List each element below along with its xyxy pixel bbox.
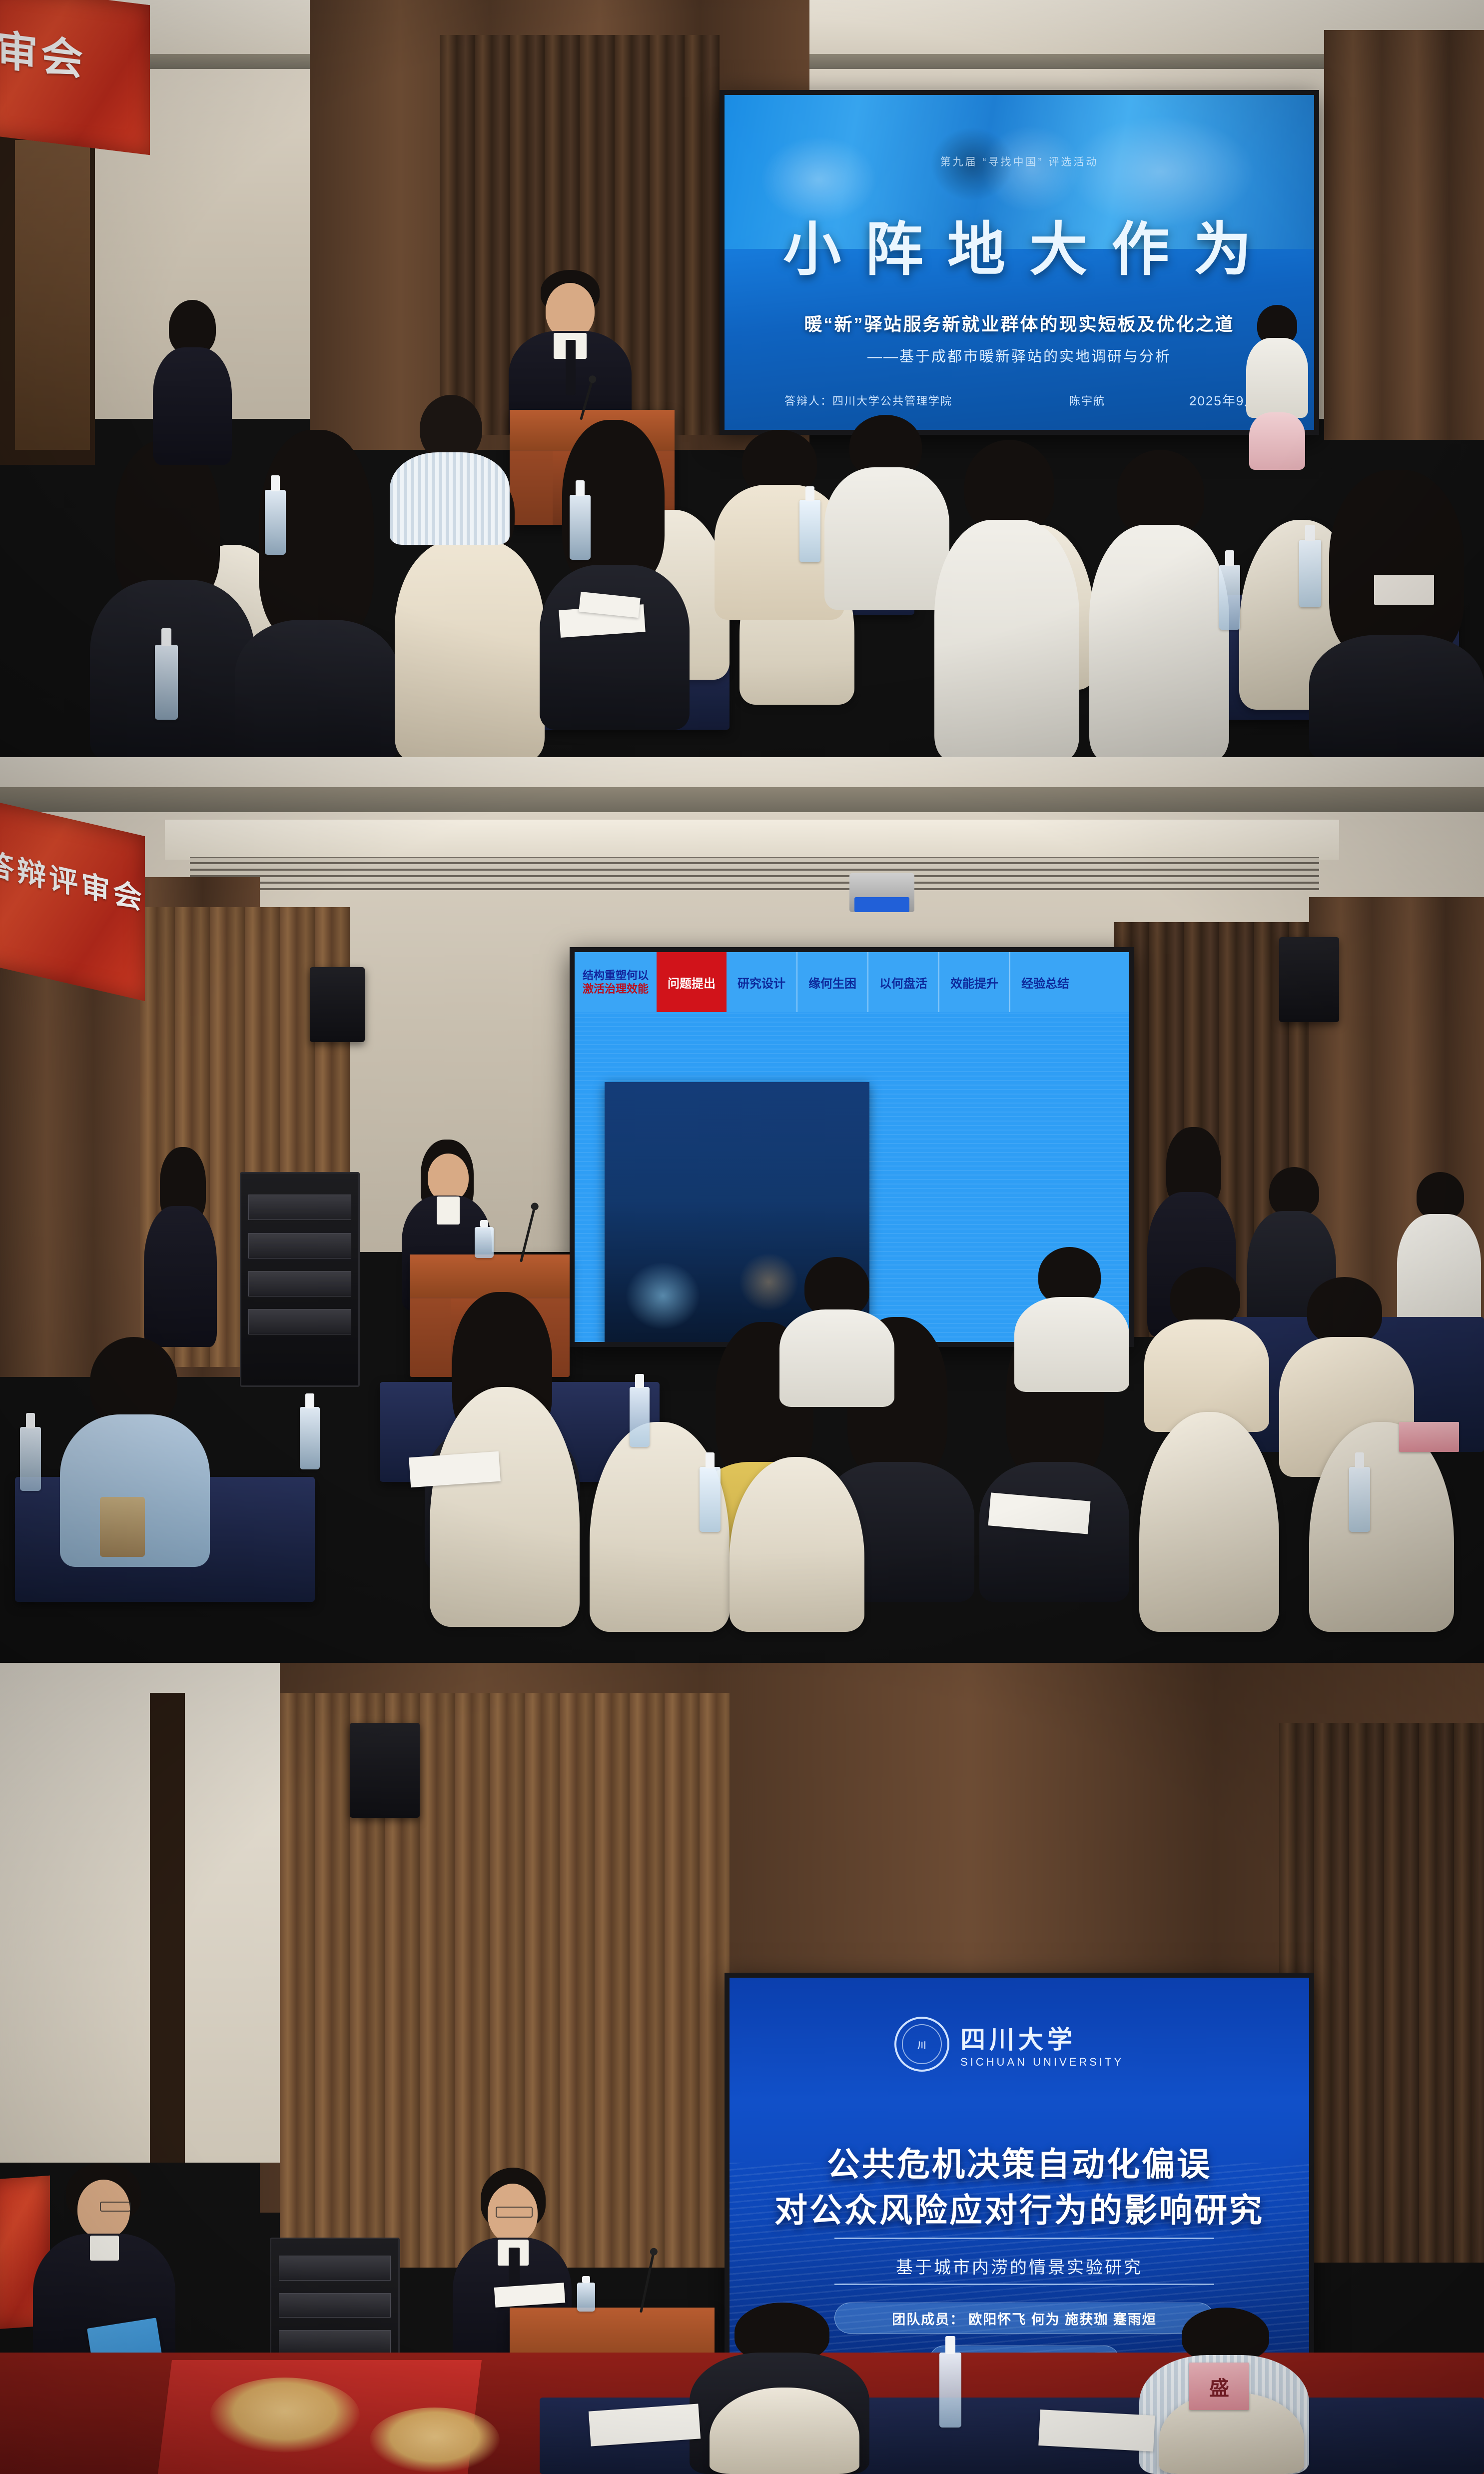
wood-wall-right	[1324, 30, 1484, 440]
water-bottle-1a	[155, 645, 178, 720]
ceiling-soffit-2	[165, 820, 1339, 860]
conference-room-2: 答辩评审会 结构重塑何以 激活治理效能 问题提出 研究设计 缘何生困	[0, 757, 1484, 1663]
iced-coffee-cup-2	[100, 1497, 145, 1557]
audience-body-1c	[395, 540, 545, 757]
ceiling-beam-2	[0, 787, 1484, 812]
observer-hair-2d	[1417, 1172, 1464, 1220]
audience-1i	[1089, 450, 1229, 757]
audience-1j	[1309, 470, 1484, 757]
judge-hair-3b	[1182, 2308, 1269, 2363]
standing-body-1l	[153, 347, 232, 465]
water-bottle-3a	[939, 2353, 961, 2428]
wood-lattice-door	[15, 140, 90, 450]
name-card-2a	[1399, 1422, 1459, 1452]
slide-divider-3	[834, 2238, 1214, 2239]
team-label: 团队成员：	[892, 2309, 964, 2328]
water-bottle-2e	[20, 1427, 41, 1491]
event-banner-1: 审会	[0, 0, 150, 155]
audience-2h	[1144, 1267, 1269, 1432]
audience-body-2f	[779, 1309, 894, 1407]
waiting-collar-3	[90, 2236, 119, 2261]
water-bottle-1f	[1219, 565, 1240, 630]
audience-body-2g	[1014, 1297, 1129, 1392]
standing-body-1k	[1246, 338, 1308, 418]
slide-tab-2[interactable]: 缘何生困	[797, 952, 868, 1012]
speaker-glasses-3	[496, 2207, 533, 2218]
ceiling-vent-2	[190, 857, 1319, 890]
carpet-motif-3a	[210, 2378, 360, 2453]
audience-2f	[779, 1257, 894, 1407]
sichuan-university-logo: 川 四川大学 SICHUAN UNIVERSITY	[894, 2017, 1124, 2072]
audience-hair-1j	[1329, 470, 1464, 660]
slide-title-line1-3: 公共危机决策自动化偏误	[730, 2138, 1309, 2186]
photo-collage: 审会 第九届 “寻找中国” 评选活动 小 阵 地 大 作 为 暖“新”驿站服务新…	[0, 0, 1484, 2474]
water-bottle-1b	[265, 490, 286, 555]
audience-hair-2a	[90, 1337, 177, 1427]
ceiling-projector-2	[849, 873, 914, 912]
audience-body-1i	[1089, 525, 1229, 757]
sichuan-university-seal-icon: 川	[894, 2017, 949, 2072]
projection-screen-1: 第九届 “寻找中国” 评选活动 小 阵 地 大 作 为 暖“新”驿站服务新就业群…	[720, 90, 1319, 435]
audience-hair-2f	[804, 1257, 869, 1317]
equipment-rack-2	[240, 1172, 360, 1387]
audience-1d	[540, 420, 690, 730]
slide-subtitle2-1: ——基于成都市暖新驿站的实地调研与分析	[725, 345, 1314, 366]
observer-body-2a	[144, 1206, 217, 1347]
door-frame-3	[150, 1693, 185, 2163]
observer-hair-2c	[1269, 1167, 1319, 1217]
carpet-motif-3b	[370, 2408, 500, 2473]
projector-lens-2	[854, 897, 909, 912]
water-bottle-2c	[700, 1467, 721, 1532]
left-wall-3	[0, 1663, 280, 2163]
audience-2g	[1014, 1247, 1129, 1392]
slide-footer-presenter-1: 陈宇航	[1069, 392, 1105, 408]
conference-room-3: 川 四川大学 SICHUAN UNIVERSITY 公共危机决策自动化偏误 对公…	[0, 1663, 1484, 2474]
slide-tab-5[interactable]: 经验总结	[1010, 952, 1080, 1012]
slide-divider2-3	[834, 2284, 1214, 2285]
observer-standing-2a	[140, 1147, 220, 1347]
banner-text-1: 审会	[0, 16, 86, 87]
audience-hair-2h	[1170, 1267, 1240, 1327]
wall-speaker-3	[350, 1723, 420, 1818]
audience-body-1h	[934, 520, 1079, 757]
conference-room-1: 审会 第九届 “寻找中国” 评选活动 小 阵 地 大 作 为 暖“新”驿站服务新…	[0, 0, 1484, 757]
audience-body-1j	[1309, 635, 1484, 757]
water-bottle-1c	[570, 495, 591, 560]
audience-hair-1i	[1117, 450, 1204, 537]
slide-title-line2-3: 对公众风险应对行为的影响研究	[730, 2184, 1309, 2232]
audience-1e	[390, 395, 510, 545]
slide-brand-2: 结构重塑何以 激活治理效能	[575, 952, 657, 1012]
panel-first-defense: 审会 第九届 “寻找中国” 评选活动 小 阵 地 大 作 为 暖“新”驿站服务新…	[0, 0, 1484, 757]
audience-hair-1h	[964, 440, 1054, 532]
handout-2a	[409, 1451, 501, 1487]
water-bottle-podium-2	[475, 1227, 494, 1258]
rack-unit-2c	[248, 1271, 351, 1296]
speaker-head-2	[428, 1154, 469, 1202]
audience-body-1d	[540, 565, 690, 730]
audience-standing-1l	[150, 300, 235, 465]
waiting-glasses-3	[100, 2202, 131, 2212]
slide-tab-4[interactable]: 效能提升	[939, 952, 1010, 1012]
audience-body-1b	[235, 620, 400, 757]
team-members: 欧阳怀飞 何为 施获珈 蹇雨烜	[968, 2309, 1157, 2328]
slide-subtitle-1: 暖“新”驿站服务新就业群体的现实短板及优化之道	[725, 310, 1314, 336]
judge-papers-3b	[1038, 2410, 1155, 2452]
slide-header-1: 第九届 “寻找中国” 评选活动	[725, 154, 1314, 169]
slide-nav-2: 结构重塑何以 激活治理效能 问题提出 研究设计 缘何生困 以何盘活 效能提升 经…	[575, 952, 1129, 1012]
slide-brand-line2: 激活治理效能	[583, 982, 649, 996]
water-bottle-2b	[630, 1387, 650, 1447]
audience-body-2e	[979, 1462, 1129, 1602]
rack-unit-3c	[279, 2330, 391, 2355]
audience-1b	[235, 430, 400, 757]
rack-unit-2a	[248, 1195, 351, 1220]
audience-hair-2i	[1307, 1277, 1382, 1344]
water-bottle-1e	[1299, 540, 1321, 607]
slide-footer-left-1: 答辩人：四川大学公共管理学院	[784, 392, 952, 408]
audience-body-1g	[824, 467, 949, 610]
standing-skirt-1k	[1249, 412, 1305, 470]
slide-tab-3[interactable]: 以何盘活	[868, 952, 939, 1012]
panel-second-defense: 答辩评审会 结构重塑何以 激活治理效能 问题提出 研究设计 缘何生困	[0, 757, 1484, 1663]
panel-third-defense: 川 四川大学 SICHUAN UNIVERSITY 公共危机决策自动化偏误 对公…	[0, 1663, 1484, 2474]
speaker-tie-1	[566, 340, 576, 395]
judge-name-card-3: 盛	[1189, 2363, 1249, 2410]
slide-subtitle-3: 基于城市内涝的情景实验研究	[730, 2254, 1309, 2278]
logo-name-en: SICHUAN UNIVERSITY	[960, 2056, 1124, 2069]
sichuan-university-names: 四川大学 SICHUAN UNIVERSITY	[960, 2020, 1124, 2069]
slide-tab-1[interactable]: 研究设计	[727, 952, 797, 1012]
rack-unit-3b	[279, 2293, 391, 2318]
screen-surface-1: 第九届 “寻找中国” 评选活动 小 阵 地 大 作 为 暖“新”驿站服务新就业群…	[725, 95, 1314, 430]
rack-unit-2d	[248, 1309, 351, 1334]
slide-title-page-1: 第九届 “寻找中国” 评选活动 小 阵 地 大 作 为 暖“新”驿站服务新就业群…	[725, 95, 1314, 430]
audience-standing-1k	[1239, 305, 1314, 470]
audience-1g	[824, 415, 949, 610]
wall-speaker-left-2	[310, 967, 365, 1042]
standing-hair-1l	[169, 300, 216, 355]
speaker-collar-2	[437, 1197, 460, 1225]
audience-body-1e	[390, 452, 510, 545]
slide-tab-0[interactable]: 问题提出	[657, 952, 727, 1012]
audience-1h	[934, 440, 1079, 757]
slide-brand-line1: 结构重塑何以	[583, 969, 649, 983]
water-bottle-2a	[300, 1407, 320, 1469]
logo-name-cn: 四川大学	[960, 2020, 1124, 2056]
water-bottle-podium-3	[577, 2283, 595, 2312]
wall-speaker-2	[1279, 937, 1339, 1022]
slide-title-1: 小 阵 地 大 作 为	[725, 202, 1314, 286]
banner-text-2: 答辩评审会	[0, 839, 145, 918]
rack-unit-2b	[248, 1233, 351, 1258]
water-bottle-1d	[799, 500, 820, 562]
rack-unit-3a	[279, 2256, 391, 2281]
name-card-1a	[1374, 575, 1434, 605]
water-bottle-2d	[1349, 1467, 1370, 1532]
audience-hair-2g	[1038, 1247, 1101, 1304]
